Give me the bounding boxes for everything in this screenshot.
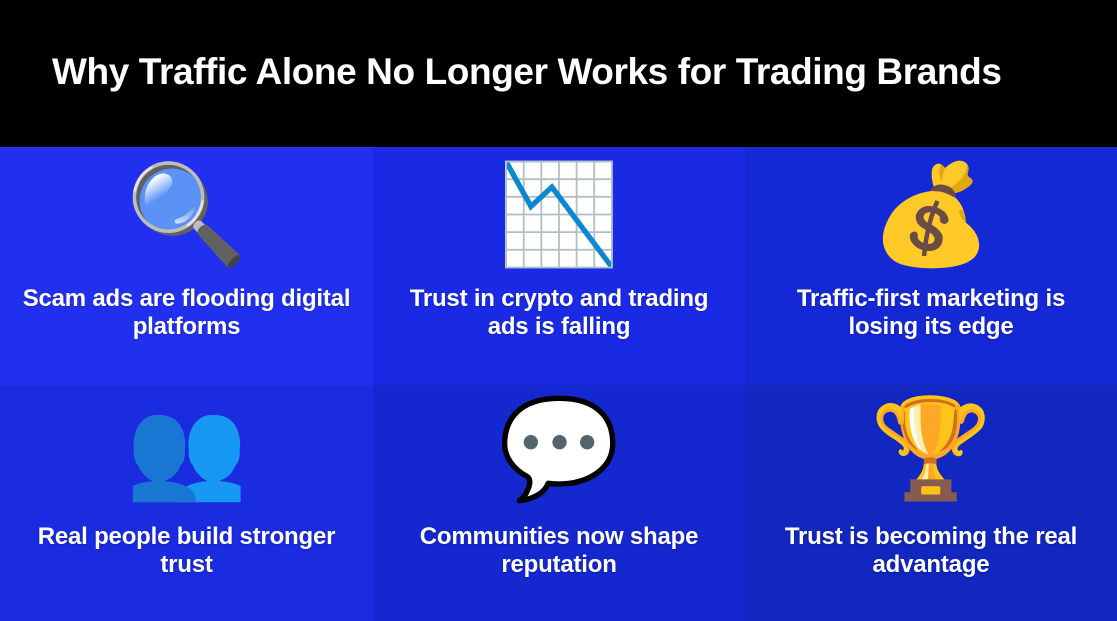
card-caption: Scam ads are flooding digital platforms <box>0 285 373 341</box>
card-scam-ads[interactable]: 🔍 Scam ads are flooding digital platform… <box>0 147 373 385</box>
card-real-people[interactable]: 👥 Real people build stronger trust <box>0 385 373 621</box>
money-bag-icon: 💰 <box>870 165 992 263</box>
trophy-icon: 🏆 <box>870 399 992 497</box>
chart-decreasing-icon: 📉 <box>498 165 620 263</box>
card-caption: Trust in crypto and trading ads is falli… <box>373 285 745 341</box>
card-caption: Traffic-first marketing is losing its ed… <box>745 285 1117 341</box>
card-caption: Real people build stronger trust <box>0 523 373 579</box>
card-trust-advantage[interactable]: 🏆 Trust is becoming the real advantage <box>745 385 1117 621</box>
magnifying-glass-tilted-left-icon: 🔍 <box>125 165 247 263</box>
busts-in-silhouette-icon: 👥 <box>125 399 247 497</box>
card-caption: Communities now shape reputation <box>373 523 745 579</box>
speech-balloon-icon: 💬 <box>498 399 620 497</box>
card-traffic-first[interactable]: 💰 Traffic-first marketing is losing its … <box>745 147 1117 385</box>
card-trust-falling[interactable]: 📉 Trust in crypto and trading ads is fal… <box>373 147 745 385</box>
card-grid: 🔍 Scam ads are flooding digital platform… <box>0 147 1117 621</box>
card-caption: Trust is becoming the real advantage <box>745 523 1117 579</box>
page-title: Why Traffic Alone No Longer Works for Tr… <box>52 50 1002 94</box>
header-band: Why Traffic Alone No Longer Works for Tr… <box>0 0 1117 147</box>
infographic-slide: Why Traffic Alone No Longer Works for Tr… <box>0 0 1117 621</box>
card-communities[interactable]: 💬 Communities now shape reputation <box>373 385 745 621</box>
